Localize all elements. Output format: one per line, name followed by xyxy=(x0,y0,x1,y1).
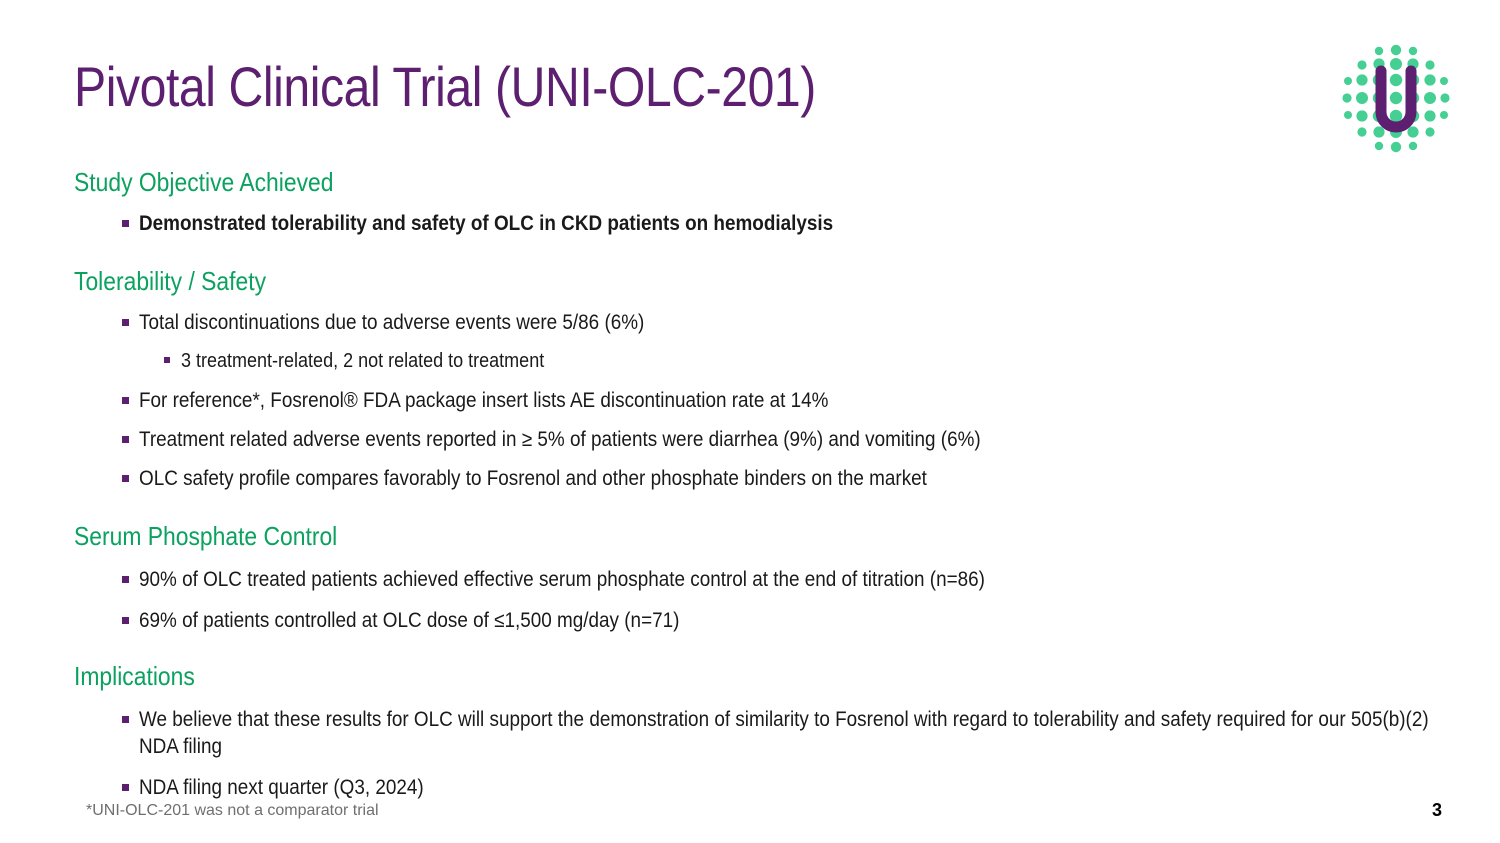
bullet-text: 69% of patients controlled at OLC dose o… xyxy=(139,607,1443,634)
page-number: 3 xyxy=(1432,799,1442,821)
bullet-list: Total discontinuations due to adverse ev… xyxy=(74,309,1444,492)
list-item: Treatment related adverse events reporte… xyxy=(74,426,1444,453)
section-heading: Tolerability / Safety xyxy=(74,265,1280,297)
section-heading: Study Objective Achieved xyxy=(74,166,1280,198)
list-item: 69% of patients controlled at OLC dose o… xyxy=(74,607,1444,634)
bullet-text: Treatment related adverse events reporte… xyxy=(139,426,1443,453)
bullet-text: Total discontinuations due to adverse ev… xyxy=(139,309,1443,336)
slide-body: Study Objective Achieved Demonstrated to… xyxy=(74,166,1444,801)
list-item: We believe that these results for OLC wi… xyxy=(74,706,1444,760)
section-heading: Implications xyxy=(74,660,1280,692)
section-tolerability-safety: Tolerability / Safety Total discontinuat… xyxy=(74,265,1444,492)
list-item: Total discontinuations due to adverse ev… xyxy=(74,309,1444,336)
company-logo xyxy=(1337,40,1455,158)
list-item-sub: 3 treatment-related, 2 not related to tr… xyxy=(74,348,1444,375)
list-item: Demonstrated tolerability and safety of … xyxy=(74,210,1444,237)
footnote: *UNI-OLC-201 was not a comparator trial xyxy=(86,801,379,821)
bullet-text: OLC safety profile compares favorably to… xyxy=(139,465,1443,492)
list-item: NDA filing next quarter (Q3, 2024) xyxy=(74,774,1444,801)
bullet-text: 3 treatment-related, 2 not related to tr… xyxy=(181,348,1443,375)
bullet-text: NDA filing next quarter (Q3, 2024) xyxy=(139,774,1443,801)
bullet-text: For reference*, Fosrenol® FDA package in… xyxy=(139,387,1443,414)
bullet-list: 90% of OLC treated patients achieved eff… xyxy=(74,566,1444,634)
section-heading: Serum Phosphate Control xyxy=(74,520,1280,552)
section-study-objective-achieved: Study Objective Achieved Demonstrated to… xyxy=(74,166,1444,237)
bullet-text: Demonstrated tolerability and safety of … xyxy=(139,210,1443,237)
section-serum-phosphate-control: Serum Phosphate Control 90% of OLC treat… xyxy=(74,520,1444,634)
bullet-text: We believe that these results for OLC wi… xyxy=(139,706,1443,760)
list-item: 90% of OLC treated patients achieved eff… xyxy=(74,566,1444,593)
bullet-list: We believe that these results for OLC wi… xyxy=(74,706,1444,801)
bullet-text: 90% of OLC treated patients achieved eff… xyxy=(139,566,1443,593)
company-logo-icon xyxy=(1337,40,1455,158)
page-title: Pivotal Clinical Trial (UNI-OLC-201) xyxy=(74,54,816,120)
bullet-list: Demonstrated tolerability and safety of … xyxy=(74,210,1444,237)
slide: Pivotal Clinical Trial (UNI-OLC-201) xyxy=(0,0,1500,843)
section-implications: Implications We believe that these resul… xyxy=(74,660,1444,801)
list-item: For reference*, Fosrenol® FDA package in… xyxy=(74,387,1444,414)
list-item: OLC safety profile compares favorably to… xyxy=(74,465,1444,492)
